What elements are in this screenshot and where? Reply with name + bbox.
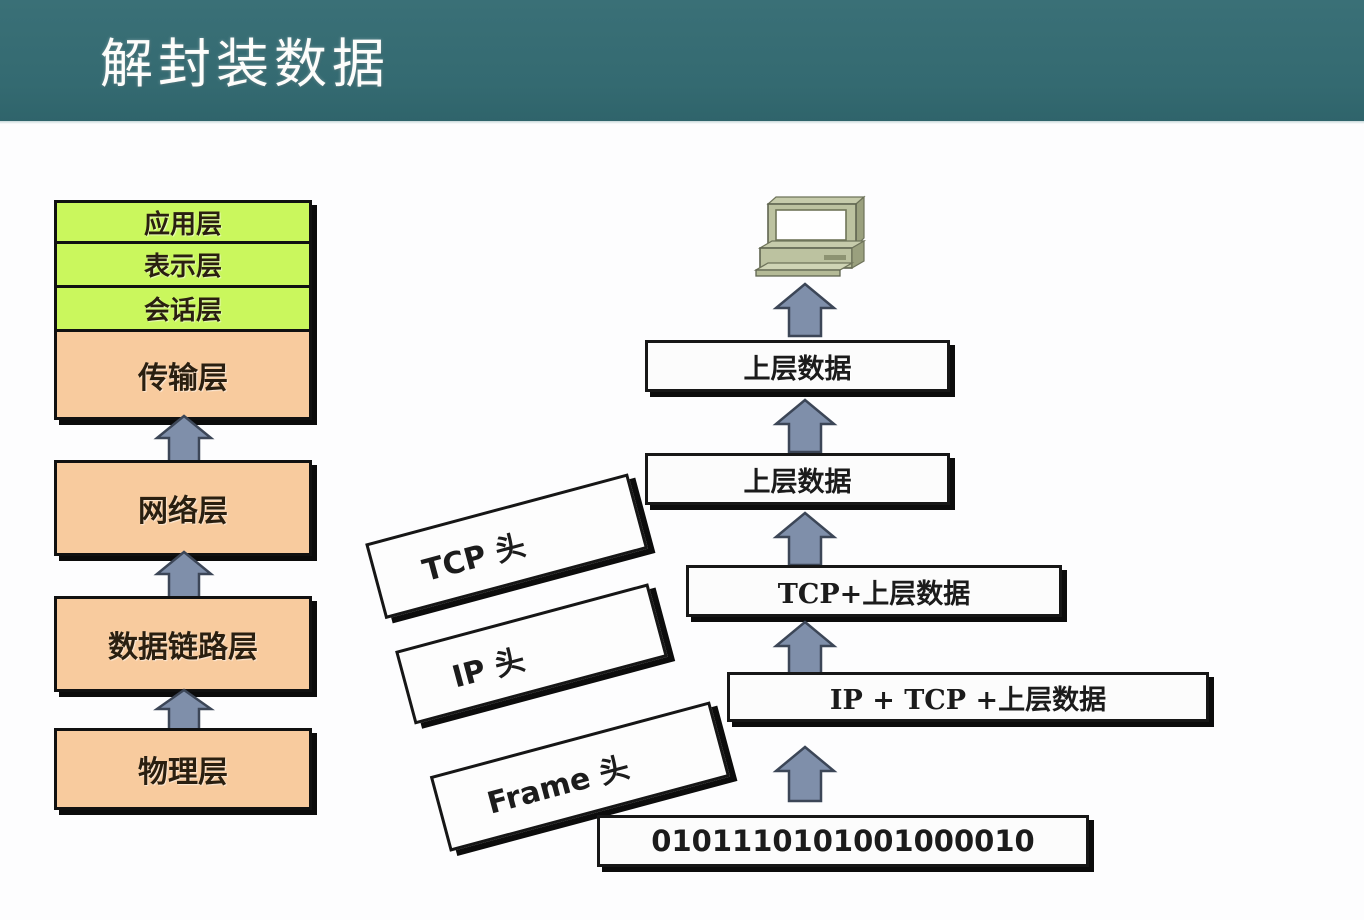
up-arrow-icon xyxy=(772,620,838,676)
data-box-bitstream[interactable]: 0101110101001000010 xyxy=(597,815,1089,867)
up-arrow-icon xyxy=(772,511,838,567)
up-arrow-icon xyxy=(772,745,838,803)
data-box-upper-data-2[interactable]: 上层数据 xyxy=(645,453,950,505)
data-box-upper-data-1[interactable]: 上层数据 xyxy=(645,340,950,392)
data-box-label: 上层数据 xyxy=(744,347,852,386)
computer-icon xyxy=(752,192,872,280)
data-box-label: 0101110101001000010 xyxy=(651,824,1034,858)
data-box-label: TCP+上层数据 xyxy=(778,572,971,611)
data-box-ip-tcp-upper-data[interactable]: IP + TCP +上层数据 xyxy=(727,672,1209,722)
up-arrow-icon xyxy=(772,398,838,454)
header-box-label: IP 头 xyxy=(402,635,529,708)
header-box-label: TCP 头 xyxy=(372,520,529,602)
data-box-tcp-upper-data[interactable]: TCP+上层数据 xyxy=(686,565,1062,617)
up-arrow-icon xyxy=(772,282,838,338)
data-box-label: IP + TCP +上层数据 xyxy=(830,678,1106,717)
deencapsulation-diagram: 上层数据 TCP 头 上层数据 IP 头 TCP+上层数据 Frame 头 IP… xyxy=(0,0,1364,920)
data-box-label: 上层数据 xyxy=(744,460,852,499)
